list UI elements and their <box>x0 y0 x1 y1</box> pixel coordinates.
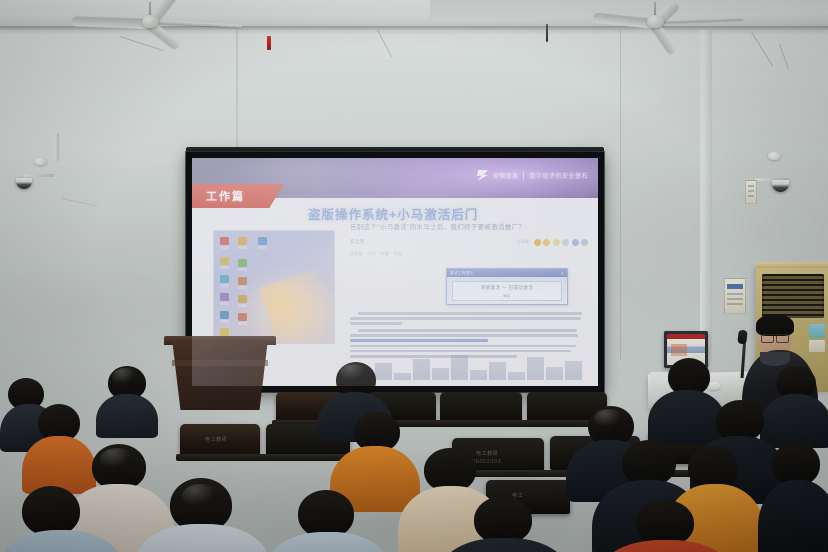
doc-icon <box>238 277 247 285</box>
dialog-ok-button[interactable]: 确定 <box>503 293 510 298</box>
share-bar: 分享到 <box>517 239 588 246</box>
dialog-body: 系统激活 — 已成功激活 确定 <box>452 281 562 301</box>
article-subline: 阅读量 · 评论 · 收藏 · 举报 <box>350 251 588 257</box>
shield-icon <box>220 311 229 319</box>
skyline-bar <box>508 372 525 380</box>
plate-bar <box>727 298 743 300</box>
camera-cap-right <box>768 152 781 160</box>
seat-back <box>440 392 522 422</box>
slide-section-ribbon: 工作篇 <box>192 184 284 208</box>
wall-signage-plate <box>745 180 757 204</box>
pdf-icon <box>220 237 229 245</box>
text-line <box>350 345 576 348</box>
chat-icon <box>220 275 229 283</box>
skyline-bar <box>565 361 582 380</box>
skyline-bar <box>413 359 430 380</box>
skyline-bar <box>394 373 411 380</box>
hair-sheen <box>182 484 218 508</box>
presenter-hair <box>756 314 794 336</box>
hair-sheen <box>112 368 138 386</box>
audience-member <box>758 442 828 552</box>
tool-icon <box>220 293 229 301</box>
slide-title: 盗版操作系统+小马激活后门 <box>308 204 478 223</box>
more-share-icon[interactable] <box>581 239 588 246</box>
article-headline: 告别这个"小马激活"的木马之后，我们终于要被激活推广？ <box>350 224 588 232</box>
audience-member <box>440 496 566 552</box>
wall-notice-plate <box>724 278 746 314</box>
audience-member <box>136 478 266 552</box>
plate-bar <box>748 185 754 187</box>
camera-mount-left <box>55 133 59 161</box>
skyline-bar <box>527 357 544 380</box>
audience-member <box>268 490 386 552</box>
plate-bar <box>727 303 743 305</box>
hair-sheen <box>594 409 624 429</box>
brand-slogan: 数字经济的安全基石 <box>529 171 588 180</box>
skyline-bar <box>432 368 449 380</box>
fan-red-tag <box>267 36 271 50</box>
audience-member <box>0 486 120 552</box>
seat-label: 电工教研 <box>205 436 227 443</box>
dialog-title: 激活工具提示 <box>450 271 473 276</box>
head <box>474 496 532 544</box>
paragraph <box>350 312 588 325</box>
wall-pillar <box>700 30 712 360</box>
skyline-bar <box>470 370 487 380</box>
head <box>298 490 354 538</box>
camera-cap-left <box>34 158 47 165</box>
archive-icon <box>238 295 247 303</box>
presenter-collar <box>760 352 790 366</box>
glasses-lens-left <box>761 334 774 343</box>
dialog-message: 系统激活 — 已成功激活 <box>481 285 533 291</box>
seat-rail <box>176 454 356 461</box>
text-line <box>358 312 582 315</box>
text-line <box>350 322 402 325</box>
plate-bar <box>748 190 754 192</box>
fan-hanging-cord <box>546 24 548 42</box>
game-icon <box>238 313 247 321</box>
plate-bar <box>748 195 754 197</box>
hair-sheen <box>100 448 134 470</box>
audience-member <box>96 366 158 436</box>
text-line <box>358 329 577 332</box>
wechat-share-icon[interactable] <box>534 239 541 246</box>
activation-dialog: 激活工具提示 ✕ 系统激活 — 已成功激活 确定 <box>446 268 568 305</box>
folder-icon <box>238 237 247 245</box>
link-share-icon[interactable] <box>572 239 579 246</box>
note-icon <box>220 328 229 336</box>
audience-member <box>600 500 730 552</box>
brand-name: 安恒信息 <box>493 171 519 180</box>
brand-divider <box>523 171 524 180</box>
brand-lockup: 安恒信息 数字经济的安全基石 <box>477 170 588 181</box>
article-source: 安全客 <box>350 239 365 245</box>
torso <box>96 394 158 438</box>
torso <box>758 480 828 552</box>
browser-icon <box>258 237 267 245</box>
skyline-bar <box>451 355 468 380</box>
skyline-bar <box>546 367 563 380</box>
company-logo-icon <box>477 170 488 181</box>
text-line <box>350 334 578 337</box>
glasses-lens-right <box>776 334 789 343</box>
app-icon <box>220 257 229 265</box>
camera-arm-left <box>24 174 54 177</box>
plate-bar <box>727 293 743 295</box>
fan-hub <box>142 15 159 28</box>
media-icon <box>238 259 247 267</box>
torso <box>600 540 732 552</box>
hair-sheen <box>340 364 368 382</box>
torso <box>0 530 122 552</box>
text-line <box>350 350 571 353</box>
text-line-link[interactable] <box>350 339 488 342</box>
plate-bar <box>727 284 743 289</box>
skyline-bar <box>489 362 506 380</box>
share-label: 分享到 <box>517 239 529 245</box>
qzone-share-icon[interactable] <box>562 239 569 246</box>
dialog-titlebar: 激活工具提示 ✕ <box>447 269 567 277</box>
article-meta-row: 安全客 分享到 <box>350 239 588 246</box>
weibo-share-icon[interactable] <box>543 239 550 246</box>
lecture-hall-photo: 安恒信息 数字经济的安全基石 工作篇 盗版操作系统+小马激活后门 <box>0 0 828 552</box>
ribbon-label: 工作篇 <box>206 188 245 204</box>
torso <box>268 532 388 552</box>
fan-hub <box>647 15 664 28</box>
windows-desktop-screenshot <box>214 231 334 343</box>
lectern-front-panel <box>172 360 268 366</box>
wall-seam-2 <box>620 30 621 360</box>
qq-share-icon[interactable] <box>553 239 560 246</box>
wooden-lectern <box>168 340 272 410</box>
head <box>22 486 80 536</box>
torso <box>136 524 268 552</box>
close-icon[interactable]: ✕ <box>561 271 564 276</box>
web-article-screenshot: 告别这个"小马激活"的木马之后，我们终于要被激活推广？ 安全客 分享到 阅读量 … <box>350 224 588 380</box>
torso <box>440 538 568 552</box>
text-line <box>350 317 581 320</box>
